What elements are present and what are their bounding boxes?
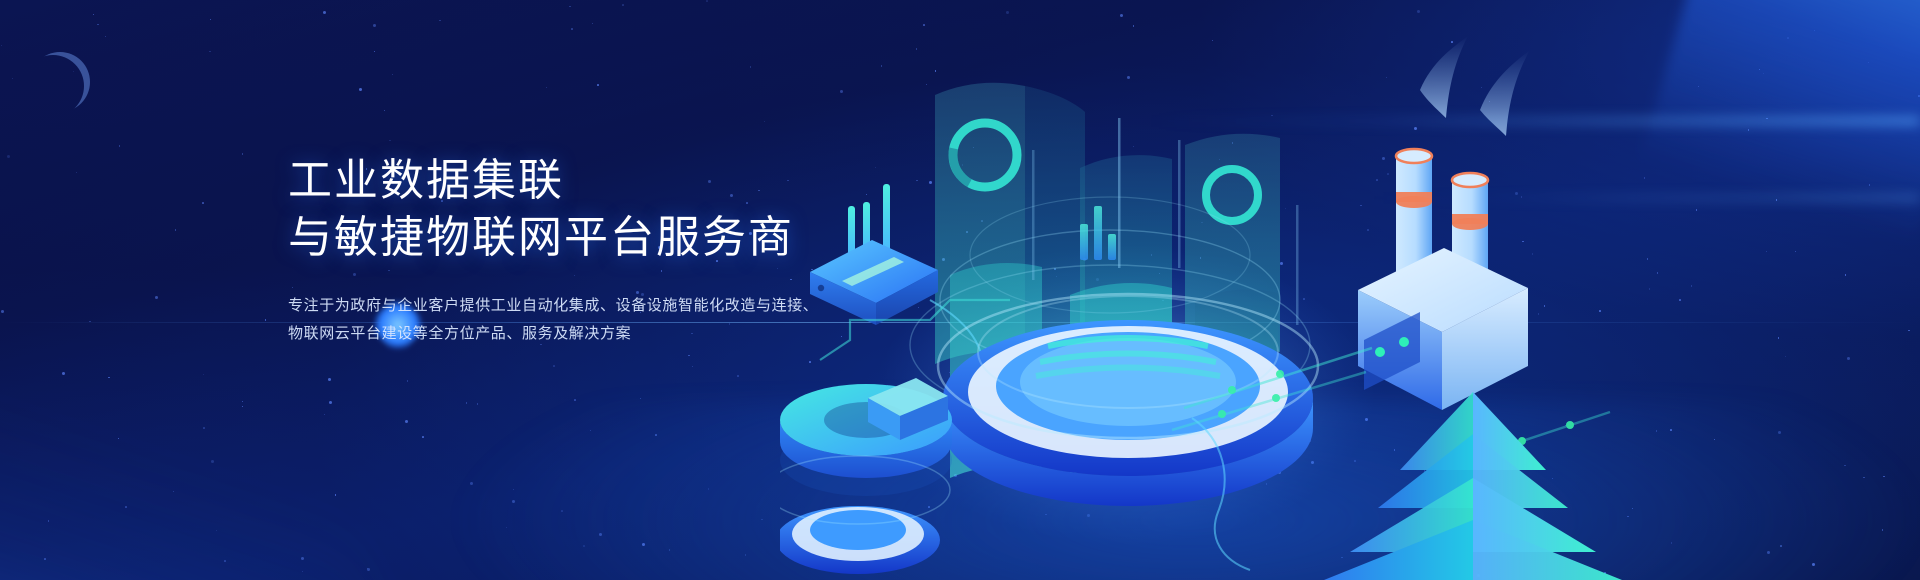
star — [374, 51, 376, 53]
star — [203, 427, 205, 429]
star — [7, 155, 10, 158]
star — [599, 533, 602, 536]
star — [590, 430, 592, 432]
star — [737, 375, 739, 377]
star — [118, 438, 120, 440]
crescent-moon-icon — [30, 52, 90, 112]
star — [155, 296, 158, 299]
star — [761, 519, 763, 521]
star — [745, 554, 747, 556]
star — [750, 66, 752, 68]
star — [764, 121, 766, 123]
star — [669, 549, 671, 551]
star — [389, 140, 391, 142]
star — [655, 434, 657, 436]
star — [569, 6, 571, 8]
star — [470, 482, 473, 485]
star — [324, 414, 326, 416]
star — [407, 380, 409, 382]
star — [211, 460, 214, 463]
donut-chart-icon — [780, 378, 952, 574]
wifi-router-icon — [810, 184, 938, 325]
star — [546, 87, 548, 89]
star — [367, 568, 370, 571]
star — [583, 545, 585, 547]
star — [622, 4, 624, 6]
star — [125, 506, 127, 508]
star — [97, 24, 99, 26]
star — [640, 398, 642, 400]
star — [48, 520, 50, 522]
star — [93, 14, 95, 16]
star — [422, 436, 424, 438]
star — [359, 88, 362, 91]
star — [105, 36, 107, 38]
star — [553, 365, 555, 367]
star — [323, 11, 326, 14]
star — [209, 51, 211, 53]
star — [405, 420, 408, 423]
star — [367, 568, 369, 570]
star — [242, 406, 244, 408]
star — [513, 489, 515, 491]
star — [203, 374, 205, 376]
factory-smokestacks-icon — [1358, 36, 1530, 410]
star — [642, 543, 645, 546]
star — [119, 145, 121, 147]
star — [76, 172, 78, 174]
star — [506, 527, 508, 529]
star — [592, 23, 594, 25]
hero-banner: 工业数据集联 与敏捷物联网平台服务商 专注于为政府与企业客户提供工业自动化集成、… — [0, 0, 1920, 580]
hero-illustration — [780, 0, 1920, 580]
star — [384, 110, 386, 112]
star — [439, 20, 441, 22]
star — [202, 202, 204, 204]
star — [688, 355, 690, 357]
star — [574, 399, 576, 401]
star — [328, 378, 331, 381]
star — [335, 494, 337, 496]
star — [173, 491, 175, 493]
star — [108, 377, 110, 379]
star — [512, 500, 515, 503]
light-beam-bottom-left — [0, 400, 401, 580]
star — [301, 557, 304, 560]
star — [210, 19, 212, 21]
star — [706, 0, 708, 2]
star — [242, 401, 244, 403]
star — [302, 571, 304, 573]
star — [477, 403, 479, 405]
star — [466, 402, 468, 404]
star — [216, 530, 218, 532]
star — [44, 558, 46, 560]
star — [224, 560, 226, 562]
star — [373, 24, 376, 27]
star — [392, 74, 394, 76]
star — [242, 153, 244, 155]
star — [62, 372, 65, 375]
star — [1, 310, 4, 313]
star — [329, 401, 332, 404]
star — [265, 319, 267, 321]
star — [1, 45, 3, 47]
star — [692, 366, 694, 368]
star — [597, 84, 599, 86]
star — [708, 488, 710, 490]
central-platform-disc — [938, 294, 1318, 506]
star — [571, 28, 573, 30]
star — [561, 510, 563, 512]
star — [175, 229, 177, 231]
star — [12, 78, 14, 80]
